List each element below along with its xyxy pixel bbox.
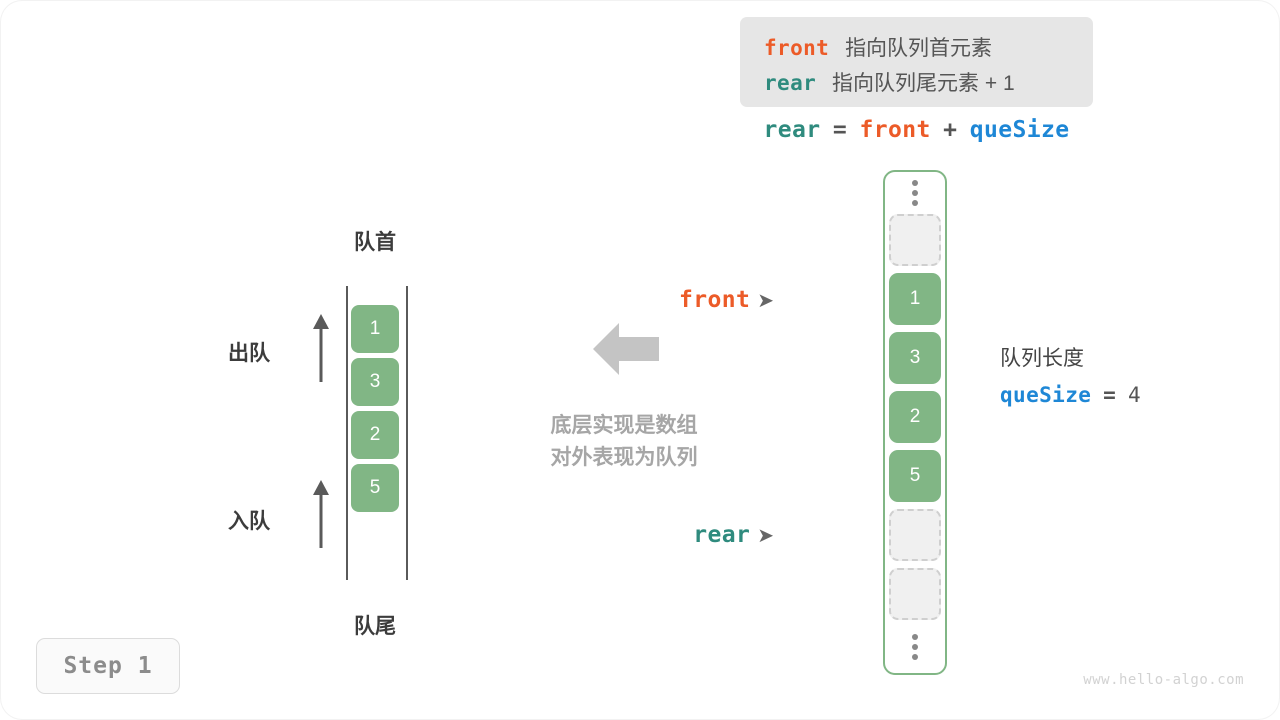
- caption-line-2: 对外表现为队列: [504, 442, 744, 474]
- quesize-equals: =: [1103, 383, 1116, 407]
- note-line-rear: rear 指向队列尾元素 + 1: [764, 67, 1015, 97]
- quesize-value: 4: [1128, 383, 1141, 407]
- formula-rear: rear: [763, 117, 820, 143]
- quesize-label: 队列长度: [1000, 341, 1141, 377]
- dequeue-arrow-icon: [308, 312, 334, 384]
- caption-line-1: 底层实现是数组: [504, 410, 744, 442]
- array-cell: 5: [889, 450, 941, 502]
- front-description: 指向队列首元素: [845, 37, 992, 60]
- queue-rail-right: [406, 286, 408, 580]
- rear-pointer-label: rear: [693, 522, 750, 548]
- formula-front: front: [860, 117, 931, 143]
- pointer-definition-note: front 指向队列首元素 rear 指向队列尾元素 + 1: [740, 17, 1093, 107]
- formula-quesize: queSize: [970, 117, 1070, 143]
- queue-rail-left: [346, 286, 348, 580]
- formula-plus: +: [943, 117, 957, 143]
- rear-pointer-arrow-icon: ➤: [757, 523, 774, 547]
- array-cell-rear: [889, 509, 941, 561]
- quesize-expression: queSize = 4: [1000, 377, 1141, 414]
- front-keyword: front: [764, 36, 829, 60]
- enqueue-label: 入队: [160, 505, 270, 535]
- watermark: www.hello-algo.com: [1018, 672, 1244, 688]
- bottom-ellipsis-icon: [908, 634, 922, 660]
- array-cell-empty: [889, 214, 941, 266]
- dequeue-label: 出队: [160, 337, 270, 367]
- queue-cell: 2: [351, 411, 399, 459]
- rear-description: 指向队列尾元素 + 1: [832, 72, 1015, 95]
- rear-formula: rear = front + queSize: [740, 116, 1093, 143]
- rear-pointer: rear➤: [634, 521, 774, 548]
- array-cell: 3: [889, 332, 941, 384]
- array-cell-empty: [889, 568, 941, 620]
- array-cell-front: 1: [889, 273, 941, 325]
- rear-keyword: rear: [764, 71, 816, 95]
- front-pointer-label: front: [679, 287, 750, 313]
- diagram-canvas: front 指向队列首元素 rear 指向队列尾元素 + 1 rear = fr…: [0, 0, 1280, 720]
- quesize-annotation: 队列长度 queSize = 4: [1000, 341, 1141, 414]
- quesize-variable: queSize: [1000, 383, 1091, 407]
- queue-head-label: 队首: [300, 226, 450, 256]
- left-arrow-icon: [593, 320, 659, 378]
- queue-cell: 1: [351, 305, 399, 353]
- formula-equals: =: [833, 117, 847, 143]
- top-ellipsis-icon: [908, 180, 922, 206]
- queue-cell: 5: [351, 464, 399, 512]
- front-pointer: front➤: [634, 286, 774, 313]
- note-line-front: front 指向队列首元素: [764, 32, 992, 62]
- implementation-caption: 底层实现是数组 对外表现为队列: [504, 410, 744, 474]
- queue-cell: 3: [351, 358, 399, 406]
- front-pointer-arrow-icon: ➤: [757, 288, 774, 312]
- array-cell: 2: [889, 391, 941, 443]
- enqueue-arrow-icon: [308, 478, 334, 550]
- queue-tail-label: 队尾: [300, 610, 450, 640]
- step-badge: Step 1: [36, 638, 180, 694]
